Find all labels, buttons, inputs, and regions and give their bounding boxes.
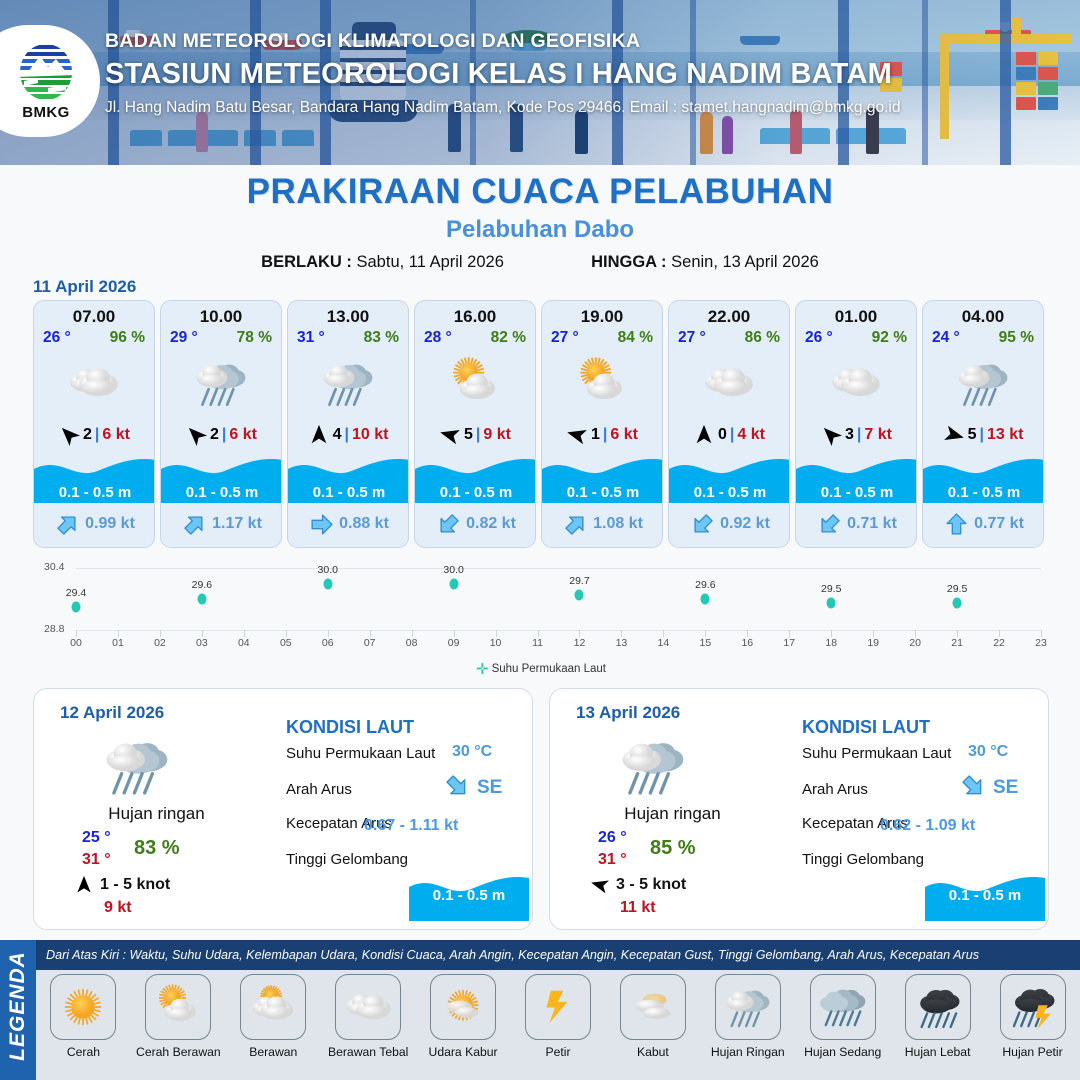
- card-wave-height: 0.1 - 0.5 m: [415, 484, 536, 501]
- chart-x-tick-label: 09: [448, 637, 460, 649]
- wind-direction-arrow-icon: [943, 424, 965, 446]
- wind-direction-arrow-icon: [185, 424, 207, 446]
- sea-condition-title: KONDISI LAUT: [802, 717, 930, 738]
- wind-direction-arrow-icon: [74, 875, 94, 895]
- current-speed-value: 0.67 - 1.11 kt: [364, 817, 458, 835]
- daily-forecast-panels: 12 April 2026Hujan ringan25 °31 °83 %1 -…: [33, 688, 1049, 930]
- berawan-icon: [34, 348, 154, 418]
- chart-point-label: 29.7: [569, 575, 589, 587]
- card-current-row: 1.17 kt: [161, 507, 282, 541]
- legend-side-label: LEGENDA: [6, 940, 30, 1072]
- chart-y-tick-label: 30.4: [44, 561, 64, 573]
- chart-x-tick: [538, 630, 539, 637]
- hujan-lebat-icon: [905, 974, 971, 1040]
- card-wind-row: 2|6 kt: [161, 422, 281, 448]
- hujan-ringan-icon: [96, 725, 178, 807]
- legend-item: Hujan Petir: [985, 974, 1080, 1080]
- card-wind-separator: |: [344, 426, 348, 444]
- hourly-card: 13.0031 °83 %4|10 kt0.1 - 0.5 m0.88 kt: [287, 300, 409, 548]
- legend-item-label: Cerah Berawan: [136, 1045, 221, 1059]
- card-wind-row: 3|7 kt: [796, 422, 916, 448]
- card-wave-height: 0.1 - 0.5 m: [669, 484, 790, 501]
- card-temp-humidity-row: 24 °95 %: [923, 327, 1043, 347]
- legend-item-label: Hujan Ringan: [711, 1045, 785, 1059]
- chart-x-tick: [663, 630, 664, 637]
- sea-surface-temp-value: 30 °C: [968, 743, 1008, 761]
- card-temp-humidity-row: 27 °86 %: [669, 327, 789, 347]
- card-wind-row: 2|6 kt: [34, 422, 154, 448]
- card-current-speed: 0.99 kt: [85, 515, 135, 533]
- card-humidity: 95 %: [999, 329, 1034, 347]
- wind-direction-arrow-icon: [693, 424, 715, 446]
- wind-direction-arrow-icon: [590, 875, 610, 895]
- daily-forecast-panel: 13 April 2026Hujan ringan26 °31 °85 %3 -…: [549, 688, 1049, 930]
- cerah-berawan-icon: [415, 348, 535, 418]
- chart-y-tick-label: 28.8: [44, 623, 64, 635]
- chart-data-point: [449, 578, 458, 589]
- chart-x-tick: [915, 630, 916, 637]
- berawan-lg-icon: [240, 974, 306, 1040]
- card-temperature: 26 °: [43, 329, 71, 347]
- legend-note-strip: Dari Atas Kiri : Waktu, Suhu Udara, Kele…: [36, 940, 1080, 970]
- legend-item: Cerah: [36, 974, 131, 1080]
- card-time: 22.00: [669, 307, 789, 327]
- card-wind-separator: |: [603, 426, 607, 444]
- chart-x-tick: [747, 630, 748, 637]
- chart-gridline: [76, 568, 1041, 569]
- cerah-berawan-icon: [542, 348, 662, 418]
- hujan-ringan-icon: [288, 348, 408, 418]
- hourly-card: 19.0027 °84 %1|6 kt0.1 - 0.5 m1.08 kt: [541, 300, 663, 548]
- card-temp-humidity-row: 26 °96 %: [34, 327, 154, 347]
- card-temp-humidity-row: 31 °83 %: [288, 327, 408, 347]
- chart-x-tick: [118, 630, 119, 637]
- chart-point-label: 29.6: [695, 579, 715, 591]
- current-direction-arrow-icon: [444, 773, 470, 799]
- valid-until-value: Senin, 13 April 2026: [671, 253, 819, 271]
- card-time: 04.00: [923, 307, 1043, 327]
- card-wind-separator: |: [476, 426, 480, 444]
- legend-item-label: Berawan Tebal: [328, 1045, 408, 1059]
- wind-direction-arrow-icon: [308, 424, 330, 446]
- valid-from-value: Sabtu, 11 April 2026: [357, 253, 504, 271]
- card-wind-direction: 2: [210, 426, 219, 444]
- card-time: 01.00: [796, 307, 916, 327]
- daily-gust: 9 kt: [104, 899, 132, 917]
- daily-wind-row: 1 - 5 knot: [74, 875, 170, 895]
- hourly-date-label: 11 April 2026: [33, 277, 136, 297]
- legend-section: LEGENDA Dari Atas Kiri : Waktu, Suhu Uda…: [0, 940, 1080, 1080]
- chart-data-point: [575, 590, 584, 601]
- daily-temp-min: 26 °: [598, 829, 627, 847]
- sea-surface-temp-value: 30 °C: [452, 743, 492, 761]
- daily-wave-height: 0.1 - 0.5 m: [925, 887, 1045, 904]
- card-temperature: 27 °: [551, 329, 579, 347]
- page-subtitle: Pelabuhan Dabo: [0, 216, 1080, 244]
- chart-point-label: 29.5: [947, 583, 967, 595]
- legend-item: Hujan Ringan: [700, 974, 795, 1080]
- card-humidity: 82 %: [491, 329, 526, 347]
- chart-x-tick: [957, 630, 958, 637]
- legend-item-label: Hujan Petir: [1002, 1045, 1062, 1059]
- wind-direction-arrow-icon: [58, 424, 80, 446]
- card-temp-humidity-row: 27 °84 %: [542, 327, 662, 347]
- card-temperature: 24 °: [932, 329, 960, 347]
- bmkg-logo-mark: [18, 41, 74, 103]
- berawan-icon: [669, 348, 789, 418]
- card-wind-direction: 0: [718, 426, 727, 444]
- daily-humidity: 85 %: [650, 837, 696, 860]
- station-address: Jl. Hang Nadim Batu Besar, Bandara Hang …: [105, 99, 1025, 117]
- card-wind-direction: 1: [591, 426, 600, 444]
- legend-item-label: Berawan: [249, 1045, 297, 1059]
- legend-side-bar: LEGENDA: [0, 940, 36, 1080]
- hourly-card: 16.0028 °82 %5|9 kt0.1 - 0.5 m0.82 kt: [414, 300, 536, 548]
- chart-x-tick: [328, 630, 329, 637]
- chart-x-tick-label: 10: [490, 637, 502, 649]
- card-wind-separator: |: [730, 426, 734, 444]
- legend-item-label: Hujan Lebat: [905, 1045, 971, 1059]
- current-direction-arrow-icon: [309, 512, 334, 537]
- card-wind-row: 0|4 kt: [669, 422, 789, 448]
- card-wind-row: 5|9 kt: [415, 422, 535, 448]
- card-wave-height: 0.1 - 0.5 m: [288, 484, 409, 501]
- sea-row-label: Arah Arus: [286, 781, 352, 798]
- sea-condition-title: KONDISI LAUT: [286, 717, 414, 738]
- chart-x-tick-label: 02: [154, 637, 166, 649]
- card-wind-row: 4|10 kt: [288, 422, 408, 448]
- sst-chart: 30.428.829.429.630.030.029.729.629.529.5…: [33, 560, 1049, 680]
- chart-x-tick: [705, 630, 706, 637]
- card-wave-height: 0.1 - 0.5 m: [796, 484, 917, 501]
- card-time: 16.00: [415, 307, 535, 327]
- hourly-card: 04.0024 °95 %5|13 kt0.1 - 0.5 m0.77 kt: [922, 300, 1044, 548]
- legend-items: CerahCerah BerawanBerawanBerawan TebalUd…: [36, 974, 1080, 1080]
- hujan-sedang-icon: [810, 974, 876, 1040]
- daily-condition: Hujan ringan: [34, 804, 279, 824]
- chart-x-tick-label: 06: [322, 637, 334, 649]
- card-wind-speed: 6 kt: [610, 426, 638, 444]
- card-wind-speed: 6 kt: [102, 426, 130, 444]
- chart-point-label: 29.5: [821, 583, 841, 595]
- page-header: BMKG BADAN METEOROLOGI KLIMATOLOGI DAN G…: [0, 0, 1080, 165]
- card-wind-row: 1|6 kt: [542, 422, 662, 448]
- daily-temp-min: 25 °: [82, 829, 111, 847]
- legend-item: Kabut: [605, 974, 700, 1080]
- legend-item: Petir: [511, 974, 606, 1080]
- card-temp-humidity-row: 26 °92 %: [796, 327, 916, 347]
- card-temperature: 27 °: [678, 329, 706, 347]
- card-time: 13.00: [288, 307, 408, 327]
- card-current-speed: 0.88 kt: [339, 515, 389, 533]
- card-wind-row: 5|13 kt: [923, 422, 1043, 448]
- sst-chart-legend: ✛Suhu Permukaan Laut: [33, 660, 1049, 678]
- card-temp-humidity-row: 29 °78 %: [161, 327, 281, 347]
- validity-row: BERLAKU : Sabtu, 11 April 2026 HINGGA : …: [0, 253, 1080, 272]
- chart-x-tick-label: 04: [238, 637, 250, 649]
- cerah-berawan-icon: [145, 974, 211, 1040]
- chart-data-point: [701, 594, 710, 605]
- valid-from-label: BERLAKU :: [261, 253, 352, 271]
- wind-direction-arrow-icon: [820, 424, 842, 446]
- legend-item-label: Kabut: [637, 1045, 669, 1059]
- hourly-card: 10.0029 °78 %2|6 kt0.1 - 0.5 m1.17 kt: [160, 300, 282, 548]
- card-current-row: 1.08 kt: [542, 507, 663, 541]
- hourly-card: 01.0026 °92 %3|7 kt0.1 - 0.5 m0.71 kt: [795, 300, 917, 548]
- card-wind-direction: 4: [333, 426, 342, 444]
- chart-x-tick-label: 03: [196, 637, 208, 649]
- legend-note: Dari Atas Kiri : Waktu, Suhu Udara, Kele…: [36, 948, 979, 962]
- daily-temp-max: 31 °: [598, 851, 627, 869]
- card-current-row: 0.82 kt: [415, 507, 536, 541]
- card-time: 19.00: [542, 307, 662, 327]
- card-current-speed: 1.17 kt: [212, 515, 262, 533]
- chart-x-tick-label: 07: [364, 637, 376, 649]
- chart-point-label: 30.0: [443, 564, 463, 576]
- card-time: 10.00: [161, 307, 281, 327]
- chart-x-tick: [202, 630, 203, 637]
- card-wave-height: 0.1 - 0.5 m: [542, 484, 663, 501]
- current-direction-arrow-icon: [436, 512, 461, 537]
- daily-condition: Hujan ringan: [550, 804, 795, 824]
- legend-item-label: Petir: [545, 1045, 570, 1059]
- daily-wave-height: 0.1 - 0.5 m: [409, 887, 529, 904]
- chart-x-tick-label: 12: [574, 637, 586, 649]
- chart-x-tick: [286, 630, 287, 637]
- card-wind-speed: 9 kt: [483, 426, 511, 444]
- card-wind-speed: 10 kt: [352, 426, 388, 444]
- chart-x-tick-label: 22: [993, 637, 1005, 649]
- card-wind-separator: |: [979, 426, 983, 444]
- station-name: STASIUN METEOROLOGI KELAS I HANG NADIM B…: [105, 58, 1025, 91]
- card-wind-speed: 4 kt: [737, 426, 765, 444]
- chart-data-point: [197, 594, 206, 605]
- daily-wind-row: 3 - 5 knot: [590, 875, 686, 895]
- card-current-speed: 0.71 kt: [847, 515, 897, 533]
- chart-x-tick-label: 01: [112, 637, 124, 649]
- card-temperature: 29 °: [170, 329, 198, 347]
- chart-x-tick: [1041, 630, 1042, 637]
- chart-x-tick-label: 17: [783, 637, 795, 649]
- daily-wind-range: 3 - 5 knot: [616, 876, 686, 894]
- hujan-ringan-icon: [161, 348, 281, 418]
- chart-x-tick: [412, 630, 413, 637]
- card-current-row: 0.92 kt: [669, 507, 790, 541]
- chart-x-tick-label: 13: [616, 637, 628, 649]
- berawan-tebal-icon: [335, 974, 401, 1040]
- card-current-speed: 0.92 kt: [720, 515, 770, 533]
- chart-x-tick: [496, 630, 497, 637]
- card-wave-height: 0.1 - 0.5 m: [34, 484, 155, 501]
- chart-x-tick-label: 08: [406, 637, 418, 649]
- legend-item: Hujan Lebat: [890, 974, 985, 1080]
- card-humidity: 96 %: [110, 329, 145, 347]
- daily-gust: 11 kt: [620, 899, 656, 917]
- chart-data-point: [72, 601, 81, 612]
- chart-data-point: [827, 597, 836, 608]
- card-humidity: 83 %: [364, 329, 399, 347]
- current-direction-value: SE: [993, 777, 1018, 799]
- chart-x-tick-label: 11: [532, 637, 543, 649]
- page-title: PRAKIRAAN CUACA PELABUHAN: [0, 172, 1080, 212]
- legend-item-label: Udara Kabur: [429, 1045, 498, 1059]
- chart-data-point: [953, 597, 962, 608]
- sst-chart-plot: 30.428.829.429.630.030.029.729.629.529.5: [76, 568, 1041, 630]
- card-temperature: 28 °: [424, 329, 452, 347]
- hujan-petir-icon: [1000, 974, 1066, 1040]
- chart-x-tick: [579, 630, 580, 637]
- chart-x-tick: [621, 630, 622, 637]
- hujan-ringan-icon: [612, 725, 694, 807]
- chart-x-tick-label: 14: [658, 637, 670, 649]
- card-wind-direction: 2: [83, 426, 92, 444]
- daily-date: 13 April 2026: [576, 703, 680, 723]
- card-wind-separator: |: [222, 426, 226, 444]
- hourly-card: 22.0027 °86 %0|4 kt0.1 - 0.5 m0.92 kt: [668, 300, 790, 548]
- card-humidity: 92 %: [872, 329, 907, 347]
- chart-x-tick-label: 21: [951, 637, 963, 649]
- card-humidity: 86 %: [745, 329, 780, 347]
- chart-x-tick: [244, 630, 245, 637]
- sea-row-label: Arah Arus: [802, 781, 868, 798]
- chart-x-tick: [454, 630, 455, 637]
- berawan-icon: [796, 348, 916, 418]
- current-direction-arrow-icon: [55, 512, 80, 537]
- wind-direction-arrow-icon: [566, 424, 588, 446]
- card-current-row: 0.88 kt: [288, 507, 409, 541]
- sst-legend-marker-icon: ✛: [476, 660, 489, 678]
- legend-item: Berawan Tebal: [321, 974, 416, 1080]
- card-temperature: 31 °: [297, 329, 325, 347]
- sea-row-label: Suhu Permukaan Laut: [286, 745, 435, 762]
- chart-x-tick-label: 16: [741, 637, 753, 649]
- chart-x-tick: [789, 630, 790, 637]
- chart-point-label: 29.6: [192, 579, 212, 591]
- card-temperature: 26 °: [805, 329, 833, 347]
- card-temp-humidity-row: 28 °82 %: [415, 327, 535, 347]
- current-direction-value: SE: [477, 777, 502, 799]
- chart-x-tick: [370, 630, 371, 637]
- sst-legend-label: Suhu Permukaan Laut: [492, 663, 606, 675]
- chart-data-point: [323, 578, 332, 589]
- daily-wind-range: 1 - 5 knot: [100, 876, 170, 894]
- udara-kabur-icon: [430, 974, 496, 1040]
- card-wind-direction: 5: [464, 426, 473, 444]
- card-wind-speed: 13 kt: [987, 426, 1023, 444]
- current-direction-arrow-icon: [182, 512, 207, 537]
- daily-forecast-panel: 12 April 2026Hujan ringan25 °31 °83 %1 -…: [33, 688, 533, 930]
- chart-x-tick-label: 20: [909, 637, 921, 649]
- daily-temp-max: 31 °: [82, 851, 111, 869]
- chart-x-tick: [831, 630, 832, 637]
- wind-direction-arrow-icon: [439, 424, 461, 446]
- card-current-row: 0.77 kt: [923, 507, 1044, 541]
- legend-item: Cerah Berawan: [131, 974, 226, 1080]
- hourly-card: 07.0026 °96 %2|6 kt0.1 - 0.5 m0.99 kt: [33, 300, 155, 548]
- legend-item-label: Hujan Sedang: [804, 1045, 881, 1059]
- current-direction-arrow-icon: [690, 512, 715, 537]
- sst-chart-xaxis: 0001020304050607080910111213141516171819…: [76, 630, 1041, 650]
- card-wind-speed: 7 kt: [864, 426, 892, 444]
- card-humidity: 84 %: [618, 329, 653, 347]
- current-direction-arrow-icon: [817, 512, 842, 537]
- chart-x-tick-label: 19: [867, 637, 879, 649]
- card-wind-direction: 5: [968, 426, 977, 444]
- chart-x-tick: [873, 630, 874, 637]
- chart-x-tick-label: 18: [825, 637, 837, 649]
- legend-item: Berawan: [226, 974, 321, 1080]
- sea-row-label: Tinggi Gelombang: [286, 851, 408, 868]
- petir-icon: [525, 974, 591, 1040]
- chart-x-tick-label: 23: [1035, 637, 1047, 649]
- hujan-ringan-icon: [715, 974, 781, 1040]
- chart-point-label: 30.0: [318, 564, 338, 576]
- chart-x-tick-label: 05: [280, 637, 292, 649]
- card-wave-height: 0.1 - 0.5 m: [161, 484, 282, 501]
- current-direction-arrow-icon: [563, 512, 588, 537]
- agency-name: BADAN METEOROLOGI KLIMATOLOGI DAN GEOFIS…: [105, 30, 1025, 53]
- card-current-row: 0.71 kt: [796, 507, 917, 541]
- valid-until-label: HINGGA :: [591, 253, 666, 271]
- current-direction-arrow-icon: [944, 512, 969, 537]
- cerah-icon: [50, 974, 116, 1040]
- card-wind-separator: |: [857, 426, 861, 444]
- legend-item-label: Cerah: [67, 1045, 100, 1059]
- daily-date: 12 April 2026: [60, 703, 164, 723]
- kabut-icon: [620, 974, 686, 1040]
- sea-row-label: Tinggi Gelombang: [802, 851, 924, 868]
- chart-x-tick: [160, 630, 161, 637]
- card-wind-separator: |: [95, 426, 99, 444]
- card-wave-height: 0.1 - 0.5 m: [923, 484, 1044, 501]
- card-wind-direction: 3: [845, 426, 854, 444]
- chart-point-label: 29.4: [66, 587, 86, 599]
- current-direction-arrow-icon: [960, 773, 986, 799]
- card-current-speed: 0.82 kt: [466, 515, 516, 533]
- card-current-speed: 0.77 kt: [974, 515, 1024, 533]
- daily-humidity: 83 %: [134, 837, 180, 860]
- hourly-forecast-cards: 07.0026 °96 %2|6 kt0.1 - 0.5 m0.99 kt10.…: [33, 300, 1049, 550]
- bmkg-logo-text: BMKG: [22, 104, 69, 121]
- legend-item: Hujan Sedang: [795, 974, 890, 1080]
- chart-x-tick: [999, 630, 1000, 637]
- current-speed-value: 0.62 - 1.09 kt: [880, 817, 975, 835]
- card-current-speed: 1.08 kt: [593, 515, 643, 533]
- card-humidity: 78 %: [237, 329, 272, 347]
- legend-item: Udara Kabur: [416, 974, 511, 1080]
- hujan-ringan-icon: [923, 348, 1043, 418]
- chart-x-tick-label: 00: [70, 637, 82, 649]
- chart-x-tick: [76, 630, 77, 637]
- card-time: 07.00: [34, 307, 154, 327]
- card-current-row: 0.99 kt: [34, 507, 155, 541]
- card-wind-speed: 6 kt: [229, 426, 257, 444]
- sea-row-label: Suhu Permukaan Laut: [802, 745, 951, 762]
- chart-x-tick-label: 15: [700, 637, 712, 649]
